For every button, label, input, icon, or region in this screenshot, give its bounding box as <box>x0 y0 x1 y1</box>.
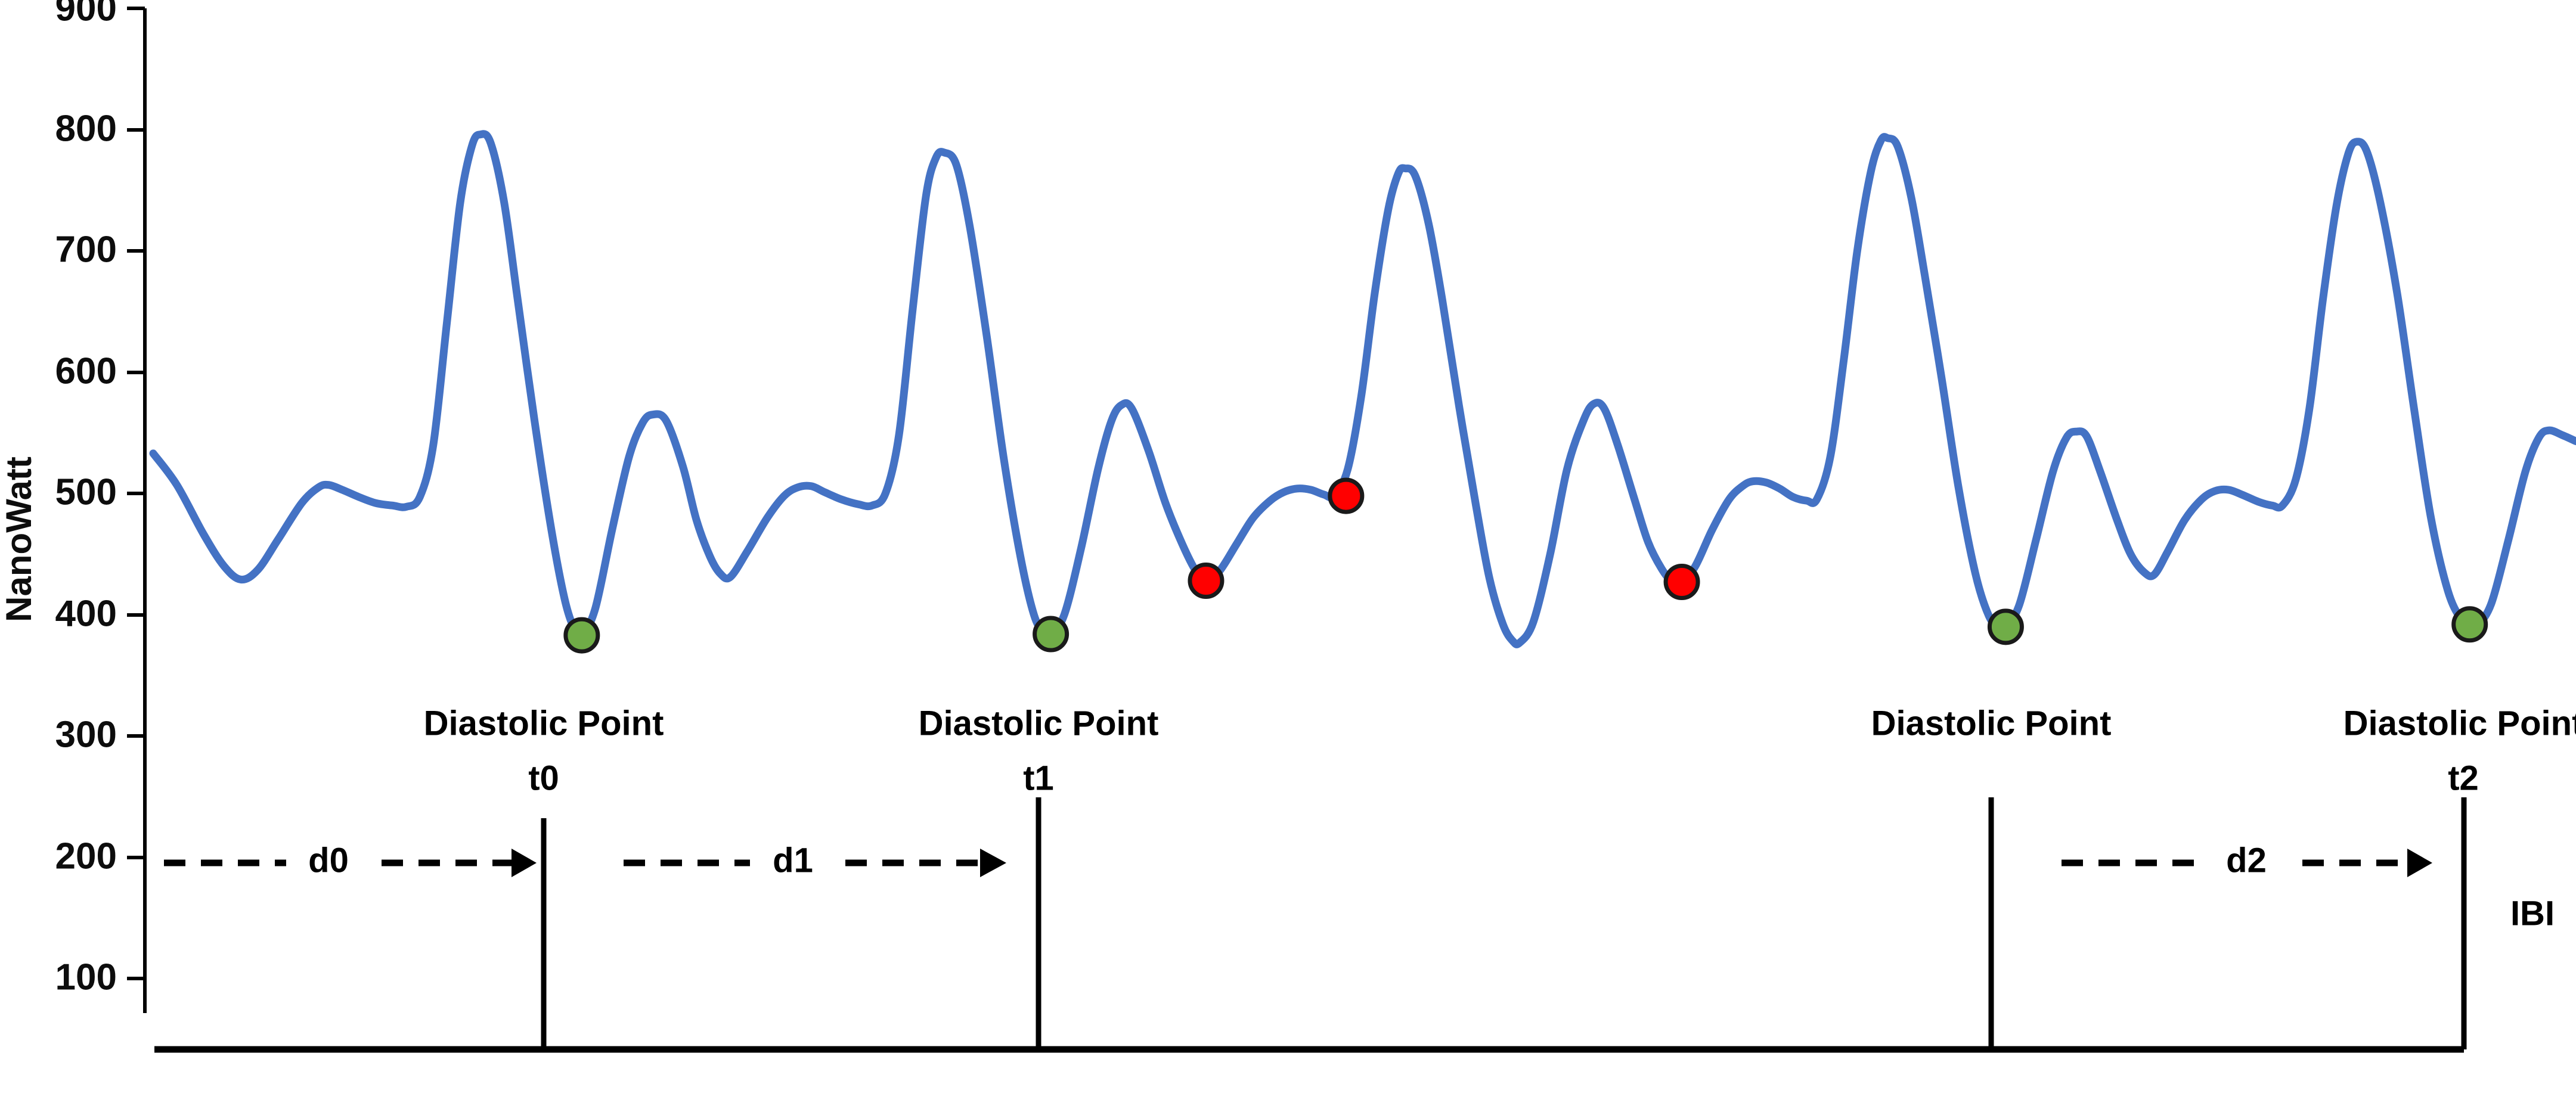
ppg-waveform-chart: 900 800 700 600 500 400 300 200 100 Nano… <box>0 0 2576 1109</box>
ibi-label: IBI <box>2510 894 2555 933</box>
y-tick-label-300: 300 <box>55 714 117 755</box>
y-tick-label-700: 700 <box>55 229 117 270</box>
d0-label: d0 <box>308 841 349 880</box>
y-tick-label-600: 600 <box>55 350 117 392</box>
diastolic-sub-t1: t1 <box>1023 759 1054 797</box>
diastolic-marker-0 <box>566 619 598 651</box>
d1-label: d1 <box>773 841 813 880</box>
candidate-marker-1 <box>1330 480 1362 512</box>
diastolic-marker-1 <box>1035 618 1067 650</box>
y-tick-label-100: 100 <box>55 956 117 998</box>
y-tick-label-800: 800 <box>55 108 117 149</box>
segment-d0: d0 <box>164 841 537 880</box>
segment-d2: d2 <box>2062 841 2432 880</box>
diastolic-label-0: Diastolic Point <box>424 704 664 743</box>
diastolic-label-3: Diastolic Point <box>2343 704 2576 743</box>
y-tick-label-200: 200 <box>55 835 117 877</box>
chart-canvas: 900 800 700 600 500 400 300 200 100 Nano… <box>0 0 2576 1109</box>
waveform-group <box>153 134 2576 645</box>
candidate-marker-0 <box>1190 565 1222 597</box>
y-axis-title: NanoWatt <box>0 456 39 622</box>
segment-d1: d1 <box>624 841 1006 880</box>
diastolic-label-2: Diastolic Point <box>1871 704 2112 743</box>
y-axis: 900 800 700 600 500 400 300 200 100 Nano… <box>0 0 145 1013</box>
d0-arrow-icon <box>512 849 537 877</box>
candidate-marker-2 <box>1666 566 1698 598</box>
y-tick-label-500: 500 <box>55 471 117 512</box>
diastolic-label-1: Diastolic Point <box>919 704 1159 743</box>
d2-label: d2 <box>2226 841 2267 880</box>
diastolic-sub-t0: t0 <box>528 759 559 797</box>
ibi-bracket: IBI <box>154 797 2555 1049</box>
y-tick-label-400: 400 <box>55 593 117 634</box>
diastolic-sub-t2: t2 <box>2448 759 2479 797</box>
d2-arrow-icon <box>2407 849 2432 877</box>
d1-arrow-icon <box>980 849 1006 877</box>
ppg-signal-line <box>153 134 2576 645</box>
diastolic-marker-3 <box>2454 608 2486 641</box>
diastolic-annotations: Diastolic Point t0 Diastolic Point t1 Di… <box>424 704 2576 797</box>
diastolic-marker-2 <box>1989 611 2022 643</box>
y-tick-label-900: 900 <box>55 0 117 29</box>
